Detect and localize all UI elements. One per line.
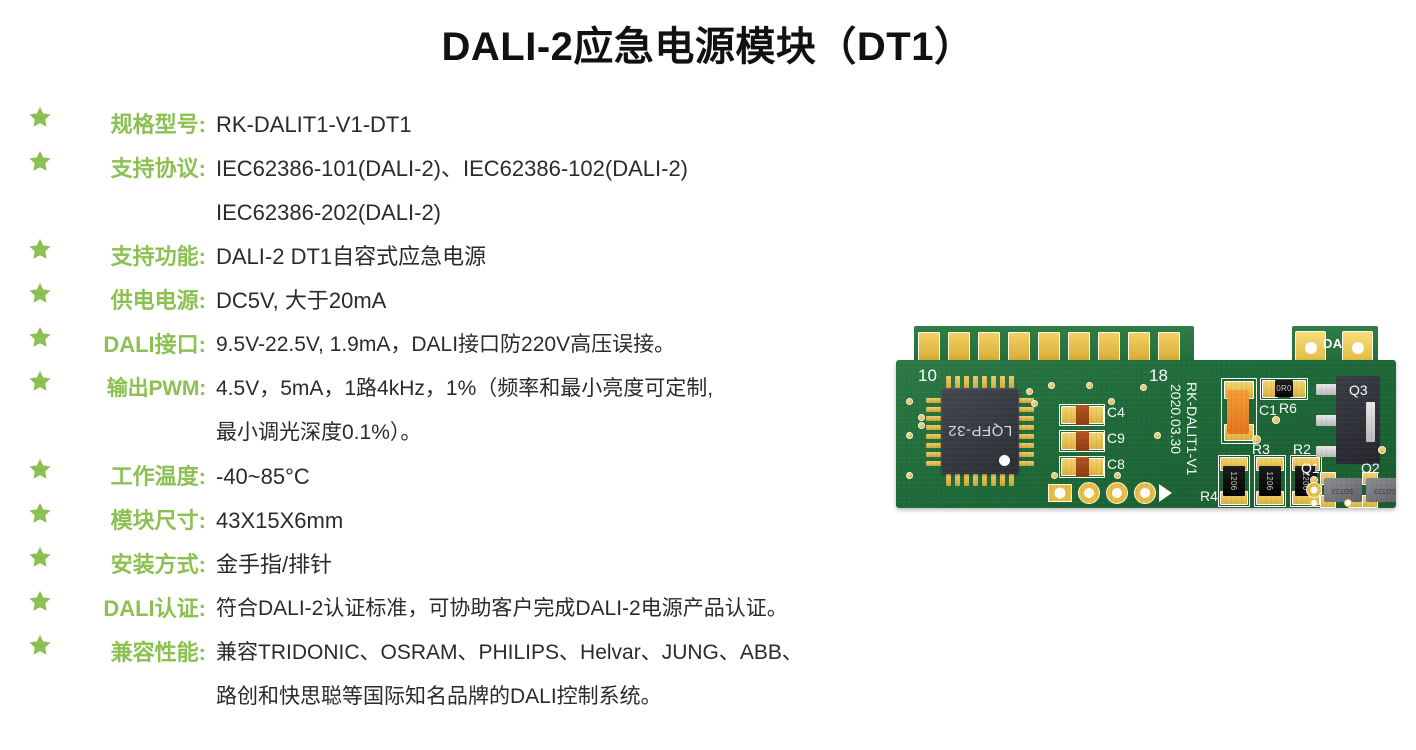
resistor-r6: 0R0 [1275,380,1293,397]
chip-pin [982,472,987,486]
gold-finger [978,332,1000,362]
pad-hole [1112,488,1122,498]
q3-lead [1316,384,1338,395]
via [1031,400,1038,407]
silkscreen-c9: C9 [1107,430,1125,446]
silkscreen-pin-10: 10 [918,366,937,386]
chip-pin [1018,407,1034,412]
spec-label: 模块尺寸: [64,499,216,543]
spec-value: 兼容TRIDONIC、OSRAM、PHILIPS、Helvar、JUNG、ABB… [216,631,1008,719]
via [1140,384,1147,391]
bullet-cell [28,279,64,310]
spec-label: 规格型号: [64,103,216,147]
gold-finger [948,332,970,362]
chip-pin [964,472,969,486]
star-icon [28,633,52,657]
chip-pin [926,425,942,430]
spec-value: 9.5V-22.5V, 1.9mA，DALI接口防220V高压误接。 [216,323,1008,367]
resistor-code: 1206 [1219,470,1249,492]
pcb-board-image: DA 10 18 RK-DALIT1-V1 2020.03.30 [896,326,1396,516]
test-pad-round [1106,482,1128,504]
star-icon [28,149,52,173]
via [1048,382,1055,389]
spec-row: 支持协议: IEC62386-101(DALI-2)、IEC62386-102(… [28,147,1008,235]
via [1086,382,1093,389]
spec-value-line: DALI-2 DT1自容式应急电源 [216,235,1008,279]
star-icon [28,281,52,305]
chip-pin [1018,461,1034,466]
via [918,414,925,421]
silkscreen-q1: Q1 [1301,460,1320,476]
gold-finger [1128,332,1150,362]
chip-pin [926,416,942,421]
chip-pin [955,472,960,486]
chip-pin [926,443,942,448]
silkscreen-date-code: 2020.03.30 [1168,384,1184,454]
bullet-cell [28,587,64,618]
page-title: DALI-2应急电源模块（DT1） [0,14,1416,72]
via [906,398,913,405]
silkscreen-c4: C4 [1107,404,1125,420]
test-pad-round [1306,482,1322,498]
spec-label: 兼容性能: [64,631,216,675]
spec-value-line: IEC62386-202(DALI-2) [216,191,1008,235]
spec-value-line: 符合DALI-2认证标准，可协助客户完成DALI-2电源产品认证。 [216,587,1008,631]
via [1108,398,1115,405]
gold-finger [1008,332,1030,362]
via [1114,472,1121,479]
spec-value: DALI-2 DT1自容式应急电源 [216,235,1008,279]
da-pad-left [1295,331,1326,363]
chip-pin [1018,452,1034,457]
spec-label: 支持功能: [64,235,216,279]
spec-value-line: 兼容TRIDONIC、OSRAM、PHILIPS、Helvar、JUNG、ABB… [216,631,1008,675]
spec-value: 43X15X6mm [216,499,1008,543]
bullet-cell [28,455,64,486]
star-icon [28,237,52,261]
q3-tab [1366,402,1375,442]
silkscreen-q3: Q3 [1349,382,1368,398]
via [1344,499,1352,507]
star-icon [28,457,52,481]
resistor-r3: 1206 [1259,466,1281,496]
pcb-substrate: 10 18 RK-DALIT1-V1 2020.03.30 [896,360,1396,508]
transistor-q1: SOT23 [1324,478,1362,502]
chip-pin [973,472,978,486]
transistor-code: SOT23 [1324,478,1362,502]
bullet-cell [28,147,64,178]
spec-value-line: 金手指/排针 [216,543,1008,587]
spec-value-line: 4.5V，5mA，1路4kHz，1%（频率和最小亮度可定制, [216,367,1008,411]
gold-finger [918,332,940,362]
via [1154,432,1161,439]
spec-value: RK-DALIT1-V1-DT1 [216,103,1008,147]
spec-list: 规格型号: RK-DALIT1-V1-DT1 支持协议: IEC62386-10… [28,103,1008,719]
bullet-cell [28,103,64,134]
spec-label: DALI接口: [64,323,216,367]
spec-value: 符合DALI-2认证标准，可协助客户完成DALI-2电源产品认证。 [216,587,1008,631]
silkscreen-da-label: DA [1323,336,1342,351]
star-icon [28,369,52,393]
transistor-q2: SOT23 [1366,478,1396,502]
gold-finger [1098,332,1120,362]
spec-row: 供电电源: DC5V, 大于20mA [28,279,1008,323]
silkscreen-r4: R4 [1200,488,1218,504]
chip-pin [926,461,942,466]
gold-finger [1158,332,1180,362]
via [1051,472,1058,479]
chip-pin [1009,472,1014,486]
chip-pin [1018,425,1034,430]
da-pad-right [1342,331,1373,363]
via [1252,435,1261,444]
spec-value-line: 43X15X6mm [216,499,1008,543]
spec-value: DC5V, 大于20mA [216,279,1008,323]
gold-finger [1068,332,1090,362]
chip-pin [926,434,942,439]
capacitor-c8 [1076,457,1089,477]
q3-lead [1316,415,1338,426]
spec-value-line: RK-DALIT1-V1-DT1 [216,103,1008,147]
spec-row: DALI认证: 符合DALI-2认证标准，可协助客户完成DALI-2电源产品认证… [28,587,1008,631]
resistor-code: 0R0 [1275,380,1293,397]
spec-row: 兼容性能: 兼容TRIDONIC、OSRAM、PHILIPS、Helvar、JU… [28,631,1008,719]
bullet-cell [28,543,64,574]
via [1378,446,1386,454]
spec-label: 安装方式: [64,543,216,587]
spec-row: 安装方式: 金手指/排针 [28,543,1008,587]
bullet-cell [28,235,64,266]
spec-label: DALI认证: [64,587,216,631]
star-icon [28,501,52,525]
chip-pin [1018,443,1034,448]
bullet-cell [28,367,64,398]
chip-pin [1018,434,1034,439]
spec-value-line: DC5V, 大于20mA [216,279,1008,323]
spec-value-line: 9.5V-22.5V, 1.9mA，DALI接口防220V高压误接。 [216,323,1008,367]
chip-pin [926,452,942,457]
star-icon [28,105,52,129]
spec-label: 工作温度: [64,455,216,499]
silkscreen-c8: C8 [1107,456,1125,472]
test-pad-round [1134,482,1156,504]
chip-pin [1000,472,1005,486]
spec-row: 输出PWM: 4.5V，5mA，1路4kHz，1%（频率和最小亮度可定制, 最小… [28,367,1008,455]
spec-row: 工作温度: -40~85°C [28,455,1008,499]
lqfp32-chip: LQFP-32 [941,388,1019,474]
chip-pin [991,472,996,486]
star-icon [28,589,52,613]
pad-hole [1140,488,1150,498]
chip-pin [926,398,942,403]
cap-pad [1087,458,1104,476]
gold-finger [1038,332,1060,362]
via [906,432,913,439]
via [1272,416,1280,424]
spec-row: 支持功能: DALI-2 DT1自容式应急电源 [28,235,1008,279]
spec-value-line: IEC62386-101(DALI-2)、IEC62386-102(DALI-2… [216,147,1008,191]
silkscreen-part-number: RK-DALIT1-V1 [1184,382,1200,475]
pad-hole [1084,488,1094,498]
spec-label: 支持协议: [64,147,216,191]
capacitor-c1 [1227,390,1249,434]
spec-row: 规格型号: RK-DALIT1-V1-DT1 [28,103,1008,147]
star-icon [28,545,52,569]
silkscreen-r6: R6 [1279,400,1297,416]
transistor-code: SOT23 [1366,478,1396,502]
test-pad-round [1078,482,1100,504]
spec-value: 4.5V，5mA，1路4kHz，1%（频率和最小亮度可定制, 最小调光深度0.1… [216,367,1008,455]
pad-hole [1055,488,1066,499]
chip-pin [1018,416,1034,421]
spec-label: 供电电源: [64,279,216,323]
pad-hole [1352,342,1364,354]
cap-pad [1087,432,1104,450]
chip-pin1-dot [999,455,1010,466]
capacitor-c9 [1076,431,1089,451]
spec-row: DALI接口: 9.5V-22.5V, 1.9mA，DALI接口防220V高压误… [28,323,1008,367]
star-icon [28,325,52,349]
q3-lead [1316,446,1338,457]
spec-label: 输出PWM: [64,367,216,411]
pad-hole [1311,487,1318,494]
spec-value: -40~85°C [216,455,1008,499]
via [1310,499,1318,507]
spec-row: 模块尺寸: 43X15X6mm [28,499,1008,543]
spec-value-line: 路创和快思聪等国际知名品牌的DALI控制系统。 [216,675,1008,719]
via [918,422,925,429]
capacitor-c4 [1076,405,1089,425]
spec-value-line: -40~85°C [216,455,1008,499]
spec-value: IEC62386-101(DALI-2)、IEC62386-102(DALI-2… [216,147,1008,235]
pad-hole [1305,342,1317,354]
spec-value-line: 最小调光深度0.1%）。 [216,411,1008,455]
polarity-triangle-icon [1159,484,1172,502]
bullet-cell [28,631,64,662]
bullet-cell [28,499,64,530]
test-pad-square [1048,484,1072,502]
bullet-cell [28,323,64,354]
via [1026,388,1033,395]
resistor-r4: 1206 [1223,466,1245,496]
silkscreen-pin-18: 18 [1149,366,1168,386]
spec-value: 金手指/排针 [216,543,1008,587]
chip-pin [946,472,951,486]
resistor-code: 1206 [1255,470,1285,492]
via [906,472,913,479]
cap-pad [1087,406,1104,424]
chip-pin [926,407,942,412]
